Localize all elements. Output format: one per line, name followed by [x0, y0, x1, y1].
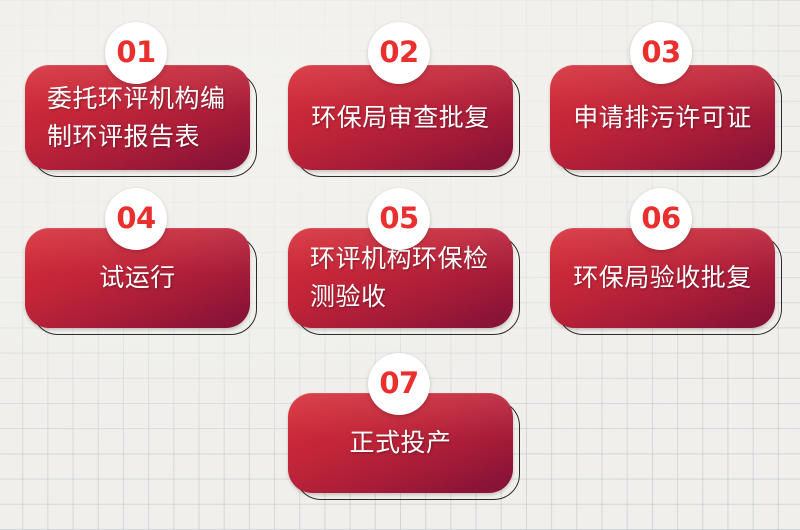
step-label: 委托环评机构编制环评报告表 — [25, 80, 250, 156]
step-number-badge: 07 — [368, 353, 430, 415]
step-number-text: 05 — [379, 204, 418, 233]
step-number-badge: 06 — [630, 188, 692, 250]
step-number-text: 06 — [641, 204, 680, 233]
step-number-text: 07 — [379, 369, 418, 398]
step-label: 试运行 — [25, 259, 250, 297]
step-number-badge: 04 — [105, 188, 167, 250]
step-number-badge: 03 — [630, 22, 692, 84]
step-label: 正式投产 — [288, 424, 513, 462]
step-number-badge: 02 — [368, 22, 430, 84]
step-label: 环保局审查批复 — [288, 99, 513, 137]
step-number-text: 02 — [379, 38, 418, 67]
step-number-text: 03 — [641, 38, 680, 67]
step-label: 环保局验收批复 — [550, 259, 775, 297]
step-label: 环评机构环保检测验收 — [288, 240, 513, 316]
step-number-text: 01 — [116, 38, 155, 67]
step-label: 申请排污许可证 — [550, 99, 775, 137]
step-number-badge: 05 — [368, 188, 430, 250]
flowchart-canvas: 委托环评机构编制环评报告表01环保局审查批复02申请排污许可证03试运行04环评… — [0, 0, 800, 530]
step-number-badge: 01 — [105, 22, 167, 84]
step-number-text: 04 — [116, 204, 155, 233]
